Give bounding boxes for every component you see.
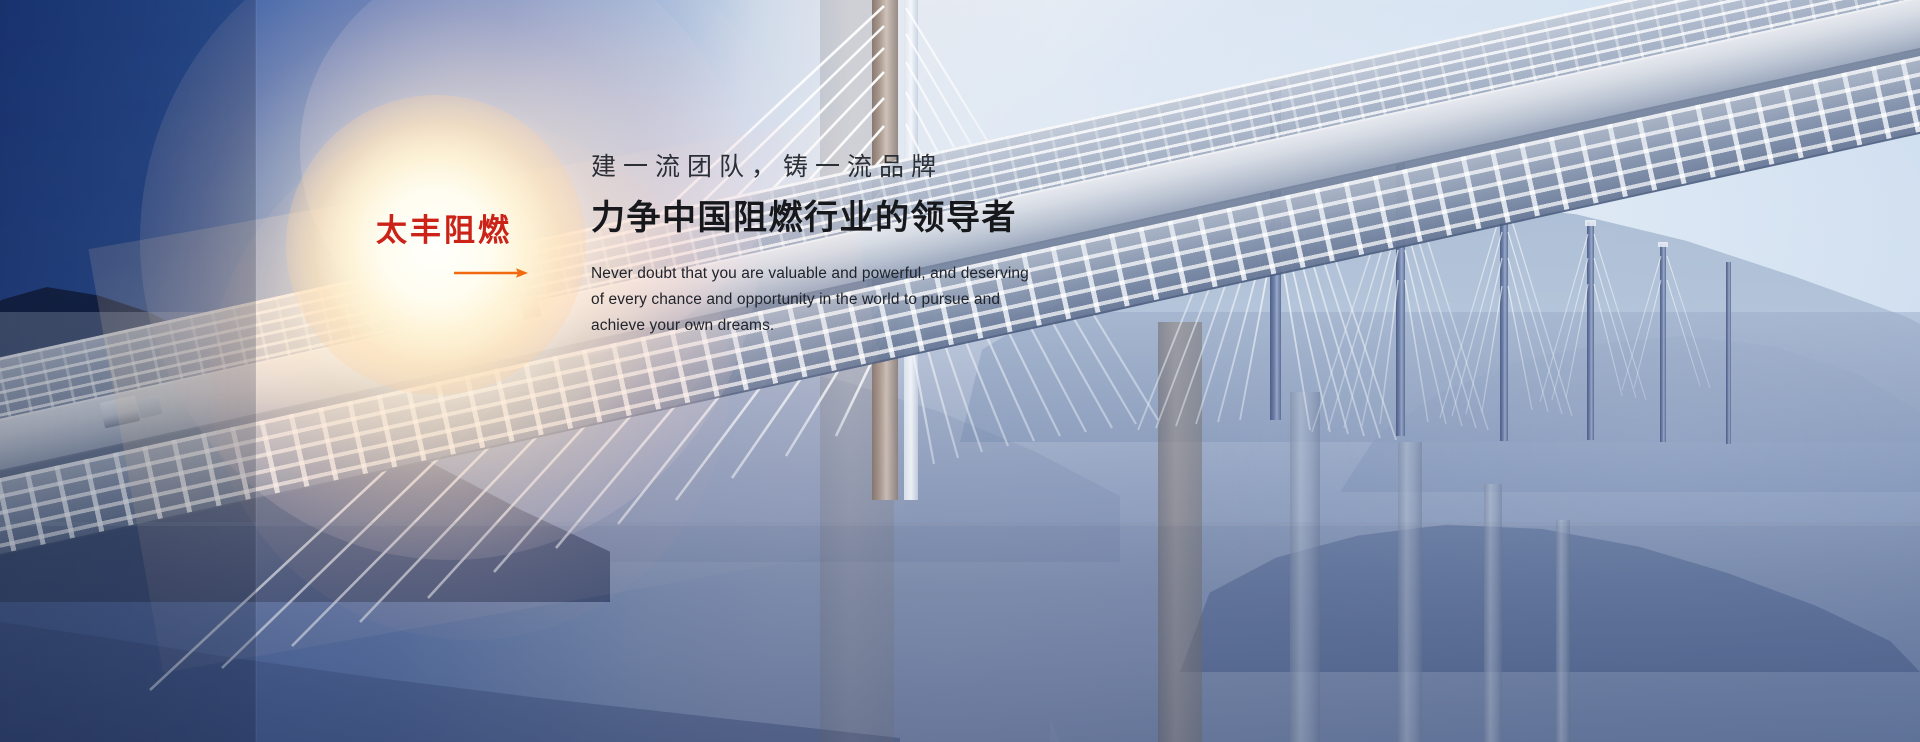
brand-logo[interactable]: 太丰阻燃 bbox=[376, 216, 536, 247]
brand-logo-text: 太丰阻燃 bbox=[376, 216, 536, 247]
hero-paragraph-line-2: of every chance and opportunity in the w… bbox=[591, 287, 1061, 313]
hero-banner: 太丰阻燃 建一流团队，铸一流品牌 力争中国阻燃行业的领导者 Never doub… bbox=[0, 0, 1920, 742]
arrow-right-icon bbox=[454, 266, 528, 280]
hero-subheadline: 建一流团队，铸一流品牌 bbox=[591, 152, 1111, 182]
hero-paragraph-line-1: Never doubt that you are valuable and po… bbox=[591, 261, 1061, 287]
hero-text-block: 建一流团队，铸一流品牌 力争中国阻燃行业的领导者 Never doubt tha… bbox=[591, 152, 1111, 339]
hero-paragraph-line-3: achieve your own dreams. bbox=[591, 313, 1061, 339]
hero-paragraph: Never doubt that you are valuable and po… bbox=[591, 261, 1061, 339]
hero-content: 太丰阻燃 建一流团队，铸一流品牌 力争中国阻燃行业的领导者 Never doub… bbox=[0, 0, 1920, 742]
hero-headline: 力争中国阻燃行业的领导者 bbox=[591, 198, 1111, 239]
